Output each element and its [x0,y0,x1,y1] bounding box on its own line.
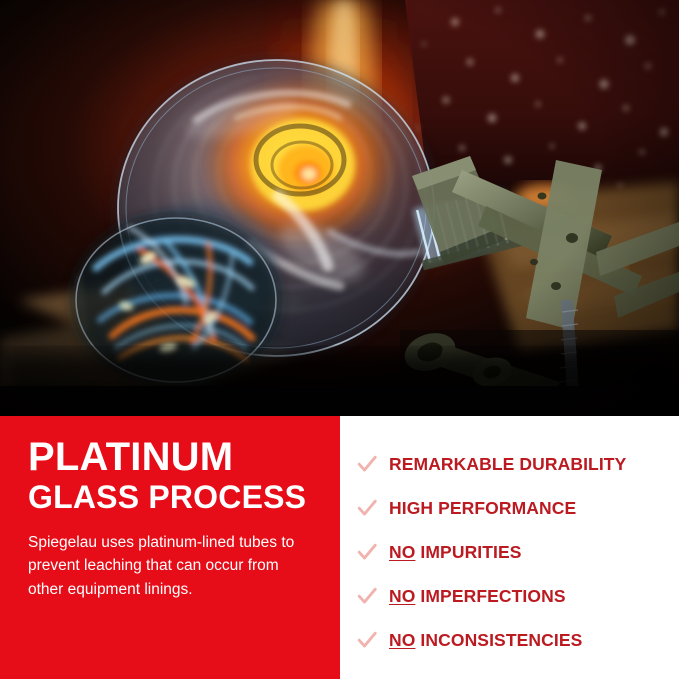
bottom-content-area: PLATINUM GLASS PROCESS Spiegelau uses pl… [0,416,679,679]
page-title-main: PLATINUM [28,438,318,477]
description-text: Spiegelau uses platinum-lined tubes to p… [28,531,318,602]
feature-text: IMPERFECTIONS [420,586,565,606]
glassblowing-photo [0,0,679,416]
list-item: HIGH PERFORMANCE [356,486,669,530]
page-title-sub: GLASS PROCESS [28,481,318,515]
checkmark-icon [356,585,378,607]
feature-negation: NO [389,630,415,650]
list-item: NO IMPERFECTIONS [356,574,669,618]
promo-banner: PLATINUM GLASS PROCESS Spiegelau uses pl… [0,0,679,679]
feature-negation: NO [389,586,415,606]
feature-label-inconsistencies: NO INCONSISTENCIES [389,630,582,651]
feature-text: INCONSISTENCIES [420,630,582,650]
feature-label-impurities: NO IMPURITIES [389,542,522,563]
list-item: NO INCONSISTENCIES [356,618,669,662]
checkmark-icon [356,541,378,563]
feature-negation: NO [389,542,415,562]
red-headline-panel: PLATINUM GLASS PROCESS Spiegelau uses pl… [0,416,340,679]
list-item: REMARKABLE DURABILITY [356,442,669,486]
checkmark-icon [356,453,378,475]
feature-label-durability: REMARKABLE DURABILITY [389,454,626,475]
feature-text: HIGH PERFORMANCE [389,498,576,518]
checkmark-icon [356,629,378,651]
list-item: NO IMPURITIES [356,530,669,574]
feature-text: IMPURITIES [420,542,521,562]
feature-label-imperfections: NO IMPERFECTIONS [389,586,566,607]
feature-list-panel: REMARKABLE DURABILITY HIGH PERFORMANCE N… [340,416,679,679]
checkmark-icon [356,497,378,519]
feature-label-performance: HIGH PERFORMANCE [389,498,576,519]
glassblowing-photo-illustration [0,0,679,416]
feature-text: REMARKABLE DURABILITY [389,454,626,474]
